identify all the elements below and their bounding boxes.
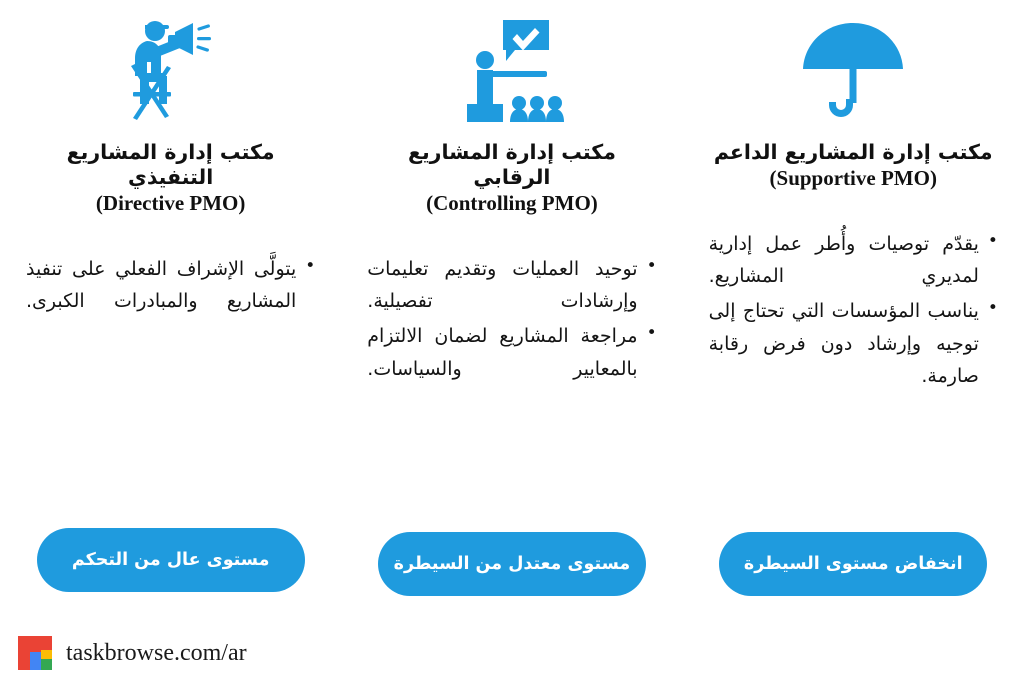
control-level-badge-controlling[interactable]: مستوى معتدل من السيطرة	[378, 532, 646, 596]
footer: taskbrowse.com/ar	[18, 632, 247, 674]
pmo-heading-controlling: مكتب إدارة المشاريع الرقابي (Controlling…	[367, 140, 656, 217]
control-level-badge-directive[interactable]: مستوى عال من التحكم	[37, 528, 305, 592]
pill-cell-directive: مستوى عال من التحكم	[0, 528, 341, 598]
pmo-heading-directive: مكتب إدارة المشاريع التنفيذي (Directive …	[26, 140, 315, 217]
control-level-pills: مستوى عال من التحكم مستوى معتدل من السيط…	[0, 528, 1024, 598]
pmo-column-supportive: مكتب إدارة المشاريع الداعم (Supportive P…	[683, 0, 1024, 612]
heading-arabic: مكتب إدارة المشاريع الرقابي	[367, 140, 656, 190]
presenter-podium-audience-checkmark-icon	[367, 0, 656, 140]
pill-cell-controlling: مستوى معتدل من السيطرة	[341, 528, 682, 598]
heading-english: (Supportive PMO)	[709, 166, 998, 192]
pmo-bullets-supportive: يقدّم توصيات وأُطر عمل إدارية لمديري الم…	[709, 228, 998, 395]
director-chair-megaphone-icon	[26, 0, 315, 140]
pmo-column-directive: مكتب إدارة المشاريع التنفيذي (Directive …	[0, 0, 341, 612]
pmo-bullets-controlling: توحيد العمليات وتقديم تعليمات وإرشادات ت…	[367, 253, 656, 388]
control-level-badge-supportive[interactable]: انخفاض مستوى السيطرة	[719, 532, 987, 596]
list-item: يتولَّى الإشراف الفعلي على تنفيذ المشاري…	[26, 253, 315, 318]
list-item: توحيد العمليات وتقديم تعليمات وإرشادات ت…	[367, 253, 656, 318]
heading-arabic: مكتب إدارة المشاريع التنفيذي	[26, 140, 315, 190]
pill-cell-supportive: انخفاض مستوى السيطرة	[683, 528, 1024, 598]
infographic-canvas: مكتب إدارة المشاريع التنفيذي (Directive …	[0, 0, 1024, 683]
umbrella-icon	[709, 0, 998, 140]
taskbrowse-multicolor-logo-icon	[18, 636, 52, 670]
site-url-text: taskbrowse.com/ar	[66, 640, 247, 667]
list-item: مراجعة المشاريع لضمان الالتزام بالمعايير…	[367, 320, 656, 385]
list-item: يقدّم توصيات وأُطر عمل إدارية لمديري الم…	[709, 228, 998, 293]
heading-arabic: مكتب إدارة المشاريع الداعم	[709, 140, 998, 165]
list-item: يناسب المؤسسات التي تحتاج إلى توجيه وإرش…	[709, 295, 998, 393]
pmo-heading-supportive: مكتب إدارة المشاريع الداعم (Supportive P…	[709, 140, 998, 192]
pmo-columns: مكتب إدارة المشاريع التنفيذي (Directive …	[0, 0, 1024, 612]
pmo-column-controlling: مكتب إدارة المشاريع الرقابي (Controlling…	[341, 0, 682, 612]
heading-english: (Controlling PMO)	[367, 191, 656, 217]
pmo-bullets-directive: يتولَّى الإشراف الفعلي على تنفيذ المشاري…	[26, 253, 315, 320]
heading-english: (Directive PMO)	[26, 191, 315, 217]
